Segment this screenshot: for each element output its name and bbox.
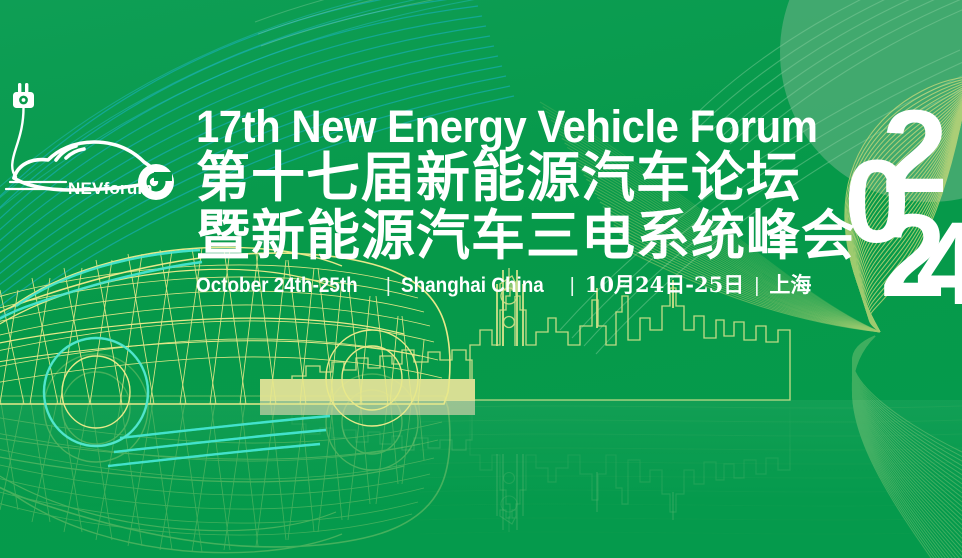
- city-english: Shanghai China: [401, 274, 544, 298]
- year-digit-4: 4: [916, 198, 962, 319]
- title-english: 17th New Energy Vehicle Forum: [196, 104, 810, 150]
- date-english: October 24th-25th: [196, 274, 358, 298]
- logo-wordmark: NEVforum: [68, 179, 153, 199]
- city-chinese: 上海: [769, 273, 811, 297]
- accent-bar: [260, 379, 475, 401]
- logo-wordmark-forum: forum: [104, 179, 153, 198]
- headline-block: 17th New Energy Vehicle Forum 第十七届新能源汽车论…: [196, 104, 856, 298]
- event-banner: NEVforum 17th New Energy Vehicle Forum 第…: [0, 0, 962, 558]
- meta-separator-2: |: [569, 274, 576, 298]
- year-2024-graphic: 2 0 2 4: [845, 104, 962, 319]
- title-chinese-line1: 第十七届新能源汽车论坛: [196, 150, 856, 206]
- charging-plug-icon: [13, 83, 34, 108]
- water-reflection-band: [0, 400, 962, 558]
- logo-wordmark-nev: NEV: [68, 179, 104, 198]
- title-chinese-line2: 暨新能源汽车三电系统峰会: [196, 208, 856, 264]
- meta-separator-3: |: [753, 274, 760, 298]
- meta-separator-1: |: [385, 274, 392, 298]
- event-meta-line: October 24th-25th | Shanghai China | 10月…: [196, 273, 856, 298]
- date-chinese: 10月24日-25日: [585, 273, 744, 297]
